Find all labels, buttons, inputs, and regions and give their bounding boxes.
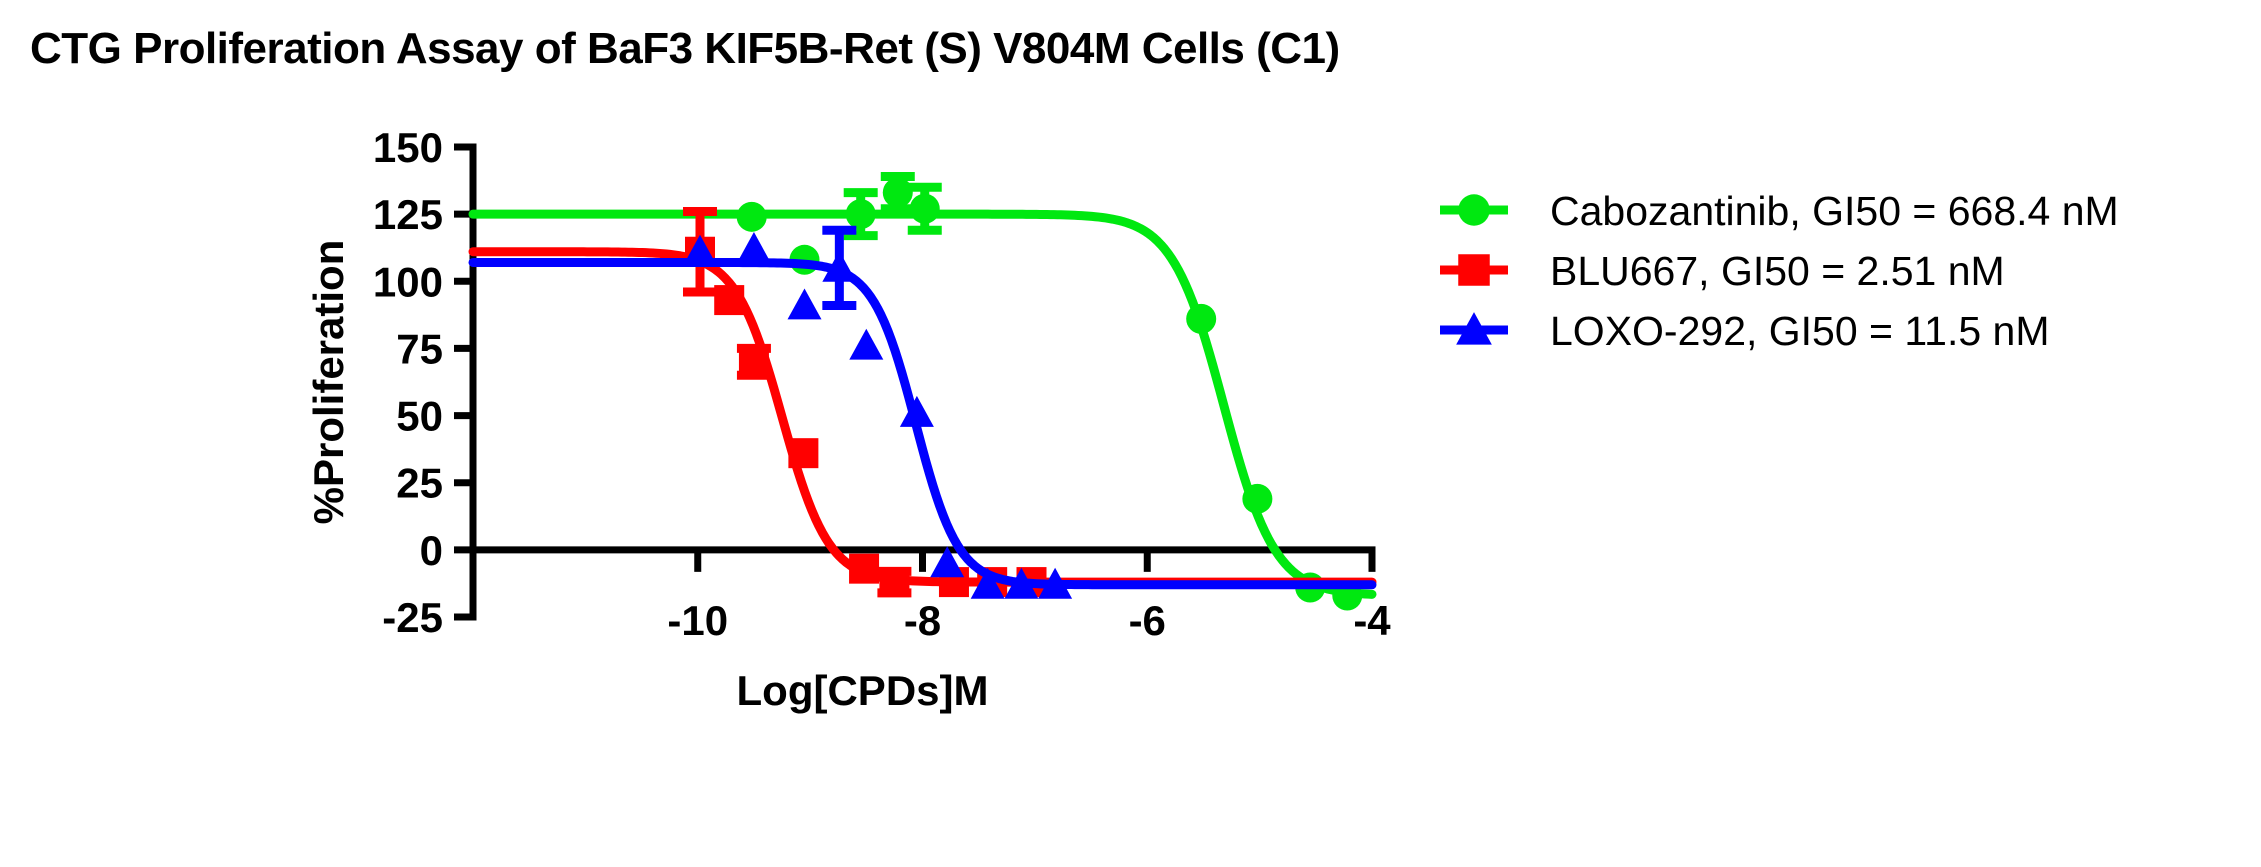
y-axis-tick-label: -25 bbox=[382, 594, 443, 641]
x-axis-tick-label: -10 bbox=[667, 597, 728, 644]
legend-item-label: Cabozantinib, GI50 = 668.4 nM bbox=[1550, 188, 2119, 234]
series-2 bbox=[473, 211, 1372, 597]
y-axis-title: %Proliferation bbox=[305, 240, 352, 525]
data-point-marker bbox=[910, 194, 940, 224]
data-point-marker bbox=[849, 554, 879, 584]
series-1 bbox=[473, 177, 1372, 611]
data-point-marker bbox=[1242, 484, 1272, 514]
data-point-marker bbox=[788, 438, 818, 468]
data-series bbox=[473, 177, 1372, 611]
data-point-marker bbox=[879, 567, 909, 597]
legend-item-label: BLU667, GI50 = 2.51 nM bbox=[1550, 248, 2005, 294]
data-point-marker bbox=[739, 347, 769, 377]
series-3 bbox=[473, 230, 1372, 598]
x-axis-tick-label: -4 bbox=[1353, 597, 1391, 644]
legend-item[interactable]: Cabozantinib, GI50 = 668.4 nM bbox=[1440, 188, 2119, 234]
x-axis-tick-label: -8 bbox=[904, 597, 941, 644]
series-fit-curve bbox=[473, 214, 1372, 594]
data-point-marker bbox=[1186, 304, 1216, 334]
y-axis-tick-label: 75 bbox=[396, 325, 443, 372]
x-axis-title: Log[CPDs]M bbox=[737, 667, 989, 714]
legend-item[interactable]: BLU667, GI50 = 2.51 nM bbox=[1440, 248, 2005, 294]
chart-figure: CTG Proliferation Assay of BaF3 KIF5B-Re… bbox=[0, 0, 2261, 867]
legend-item-label: LOXO-292, GI50 = 11.5 nM bbox=[1550, 308, 2050, 354]
data-point-marker bbox=[788, 288, 822, 319]
y-axis-tick-label: 50 bbox=[396, 393, 443, 440]
y-axis-tick-label: 25 bbox=[396, 460, 443, 507]
data-point-marker bbox=[737, 232, 771, 263]
data-point-marker bbox=[1458, 194, 1490, 226]
data-point-marker bbox=[846, 199, 876, 229]
data-point-marker bbox=[849, 329, 883, 360]
data-point-marker bbox=[883, 178, 913, 208]
x-axis-tick-label: -6 bbox=[1129, 597, 1166, 644]
legend-item[interactable]: LOXO-292, GI50 = 11.5 nM bbox=[1440, 308, 2050, 354]
data-point-marker bbox=[737, 202, 767, 232]
data-point-marker bbox=[1458, 254, 1490, 286]
chart-legend: Cabozantinib, GI50 = 668.4 nMBLU667, GI5… bbox=[1440, 188, 2119, 354]
proliferation-dose-response-chart: -250255075100125150-10-8-6-4Log[CPDs]M%P… bbox=[0, 0, 2261, 867]
y-axis-tick-label: 100 bbox=[373, 258, 443, 305]
y-axis-tick-label: 150 bbox=[373, 124, 443, 171]
y-axis-tick-label: 0 bbox=[420, 527, 443, 574]
data-point-marker bbox=[714, 285, 744, 315]
y-axis-tick-label: 125 bbox=[373, 191, 443, 238]
